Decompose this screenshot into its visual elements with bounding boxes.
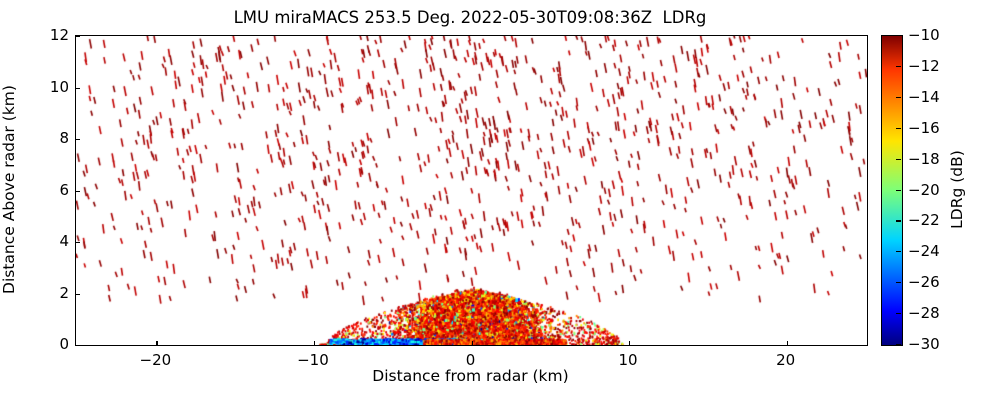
colorbar-tick-mark — [896, 159, 901, 160]
colorbar-tick-mark — [896, 66, 901, 67]
y-tick-mark — [76, 242, 80, 243]
colorbar-tick-mark — [896, 190, 901, 191]
y-tick-label: 6 — [13, 181, 69, 199]
y-tick-label: 8 — [13, 129, 69, 147]
colorbar-tick-mark — [896, 220, 901, 221]
y-tick-mark — [76, 191, 80, 192]
x-tick-label: −10 — [283, 351, 343, 369]
colorbar-tick-mark — [896, 282, 901, 283]
colorbar-tick-label: −12 — [908, 57, 940, 75]
y-tick-mark — [76, 139, 80, 140]
page-title: LMU miraMACS 253.5 Deg. 2022-05-30T09:08… — [0, 8, 940, 27]
colorbar-tick-label: −24 — [908, 242, 940, 260]
x-axis-label: Distance from radar (km) — [75, 367, 866, 385]
colorbar-tick-label: −26 — [908, 273, 940, 291]
y-tick-mark — [76, 88, 80, 89]
colorbar-label: LDRg (dB) — [948, 35, 968, 344]
colorbar-tick-label: −22 — [908, 211, 940, 229]
x-tick-label: 0 — [441, 351, 501, 369]
colorbar-tick-label: −10 — [908, 26, 940, 44]
x-tick-mark — [629, 341, 630, 345]
x-tick-label: 20 — [756, 351, 816, 369]
x-tick-mark — [156, 341, 157, 345]
x-tick-mark — [787, 341, 788, 345]
colorbar-tick-label: −14 — [908, 88, 940, 106]
x-tick-mark — [314, 341, 315, 345]
y-tick-label: 10 — [13, 78, 69, 96]
x-tick-mark — [472, 341, 473, 345]
figure-canvas: LMU miraMACS 253.5 Deg. 2022-05-30T09:08… — [0, 0, 1000, 400]
x-tick-label: 10 — [598, 351, 658, 369]
y-tick-label: 0 — [13, 335, 69, 353]
y-tick-label: 12 — [13, 26, 69, 44]
colorbar-tick-mark — [896, 251, 901, 252]
colorbar-tick-mark — [896, 128, 901, 129]
colorbar-tick-mark — [896, 35, 901, 36]
y-tick-mark — [76, 36, 80, 37]
colorbar-tick-mark — [896, 344, 901, 345]
colorbar-tick-label: −20 — [908, 181, 940, 199]
colorbar-tick-mark — [896, 97, 901, 98]
y-tick-label: 2 — [13, 284, 69, 302]
colorbar-tick-mark — [896, 313, 901, 314]
colorbar-tick-label: −28 — [908, 304, 940, 322]
scatter-data-layer — [76, 36, 867, 345]
colorbar-tick-label: −16 — [908, 119, 940, 137]
y-tick-mark — [76, 345, 80, 346]
x-tick-label: −20 — [125, 351, 185, 369]
colorbar-tick-label: −30 — [908, 335, 940, 353]
colorbar-tick-label: −18 — [908, 150, 940, 168]
y-tick-mark — [76, 294, 80, 295]
plot-axes — [75, 35, 868, 346]
y-tick-label: 4 — [13, 232, 69, 250]
